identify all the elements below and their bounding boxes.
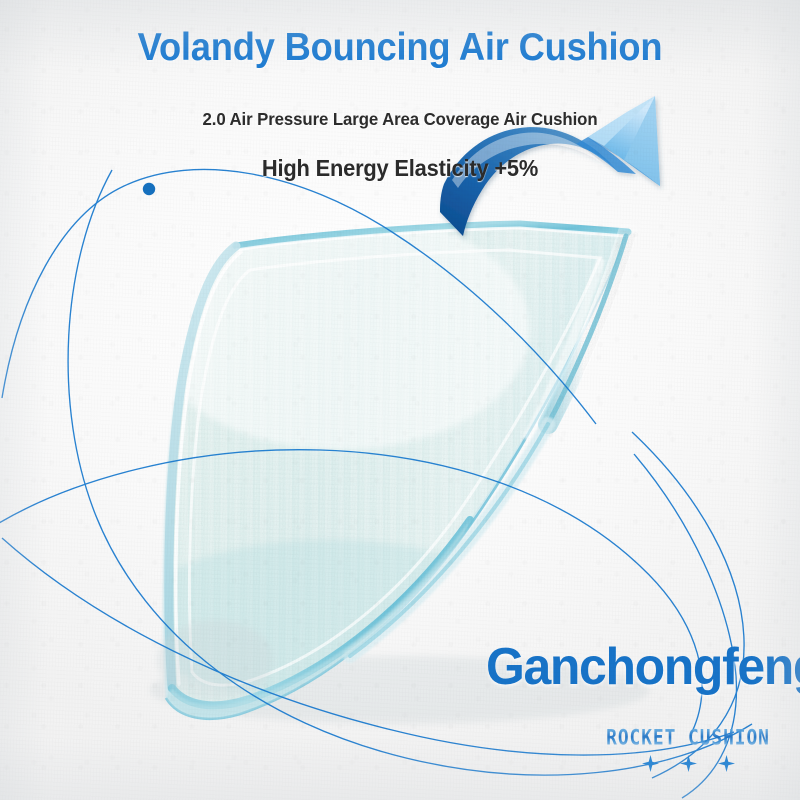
subtitle-secondary: High Energy Elasticity +5% xyxy=(20,155,780,182)
four-point-star-icon xyxy=(680,755,697,772)
four-point-star-icon xyxy=(642,755,659,772)
subtitle-primary: 2.0 Air Pressure Large Area Coverage Air… xyxy=(16,109,784,130)
brand-overlay-text: Ganchongfeng xyxy=(486,637,800,697)
watermark-logo-text: ROCKET CUSHION xyxy=(594,726,782,751)
watermark-logo: ROCKET CUSHION xyxy=(588,727,788,772)
product-banner: Volandy Bouncing Air Cushion 2.0 Air Pre… xyxy=(0,0,800,800)
watermark-sparkles xyxy=(588,755,788,772)
four-point-star-icon xyxy=(718,755,735,772)
page-title: Volandy Bouncing Air Cushion xyxy=(28,27,772,70)
